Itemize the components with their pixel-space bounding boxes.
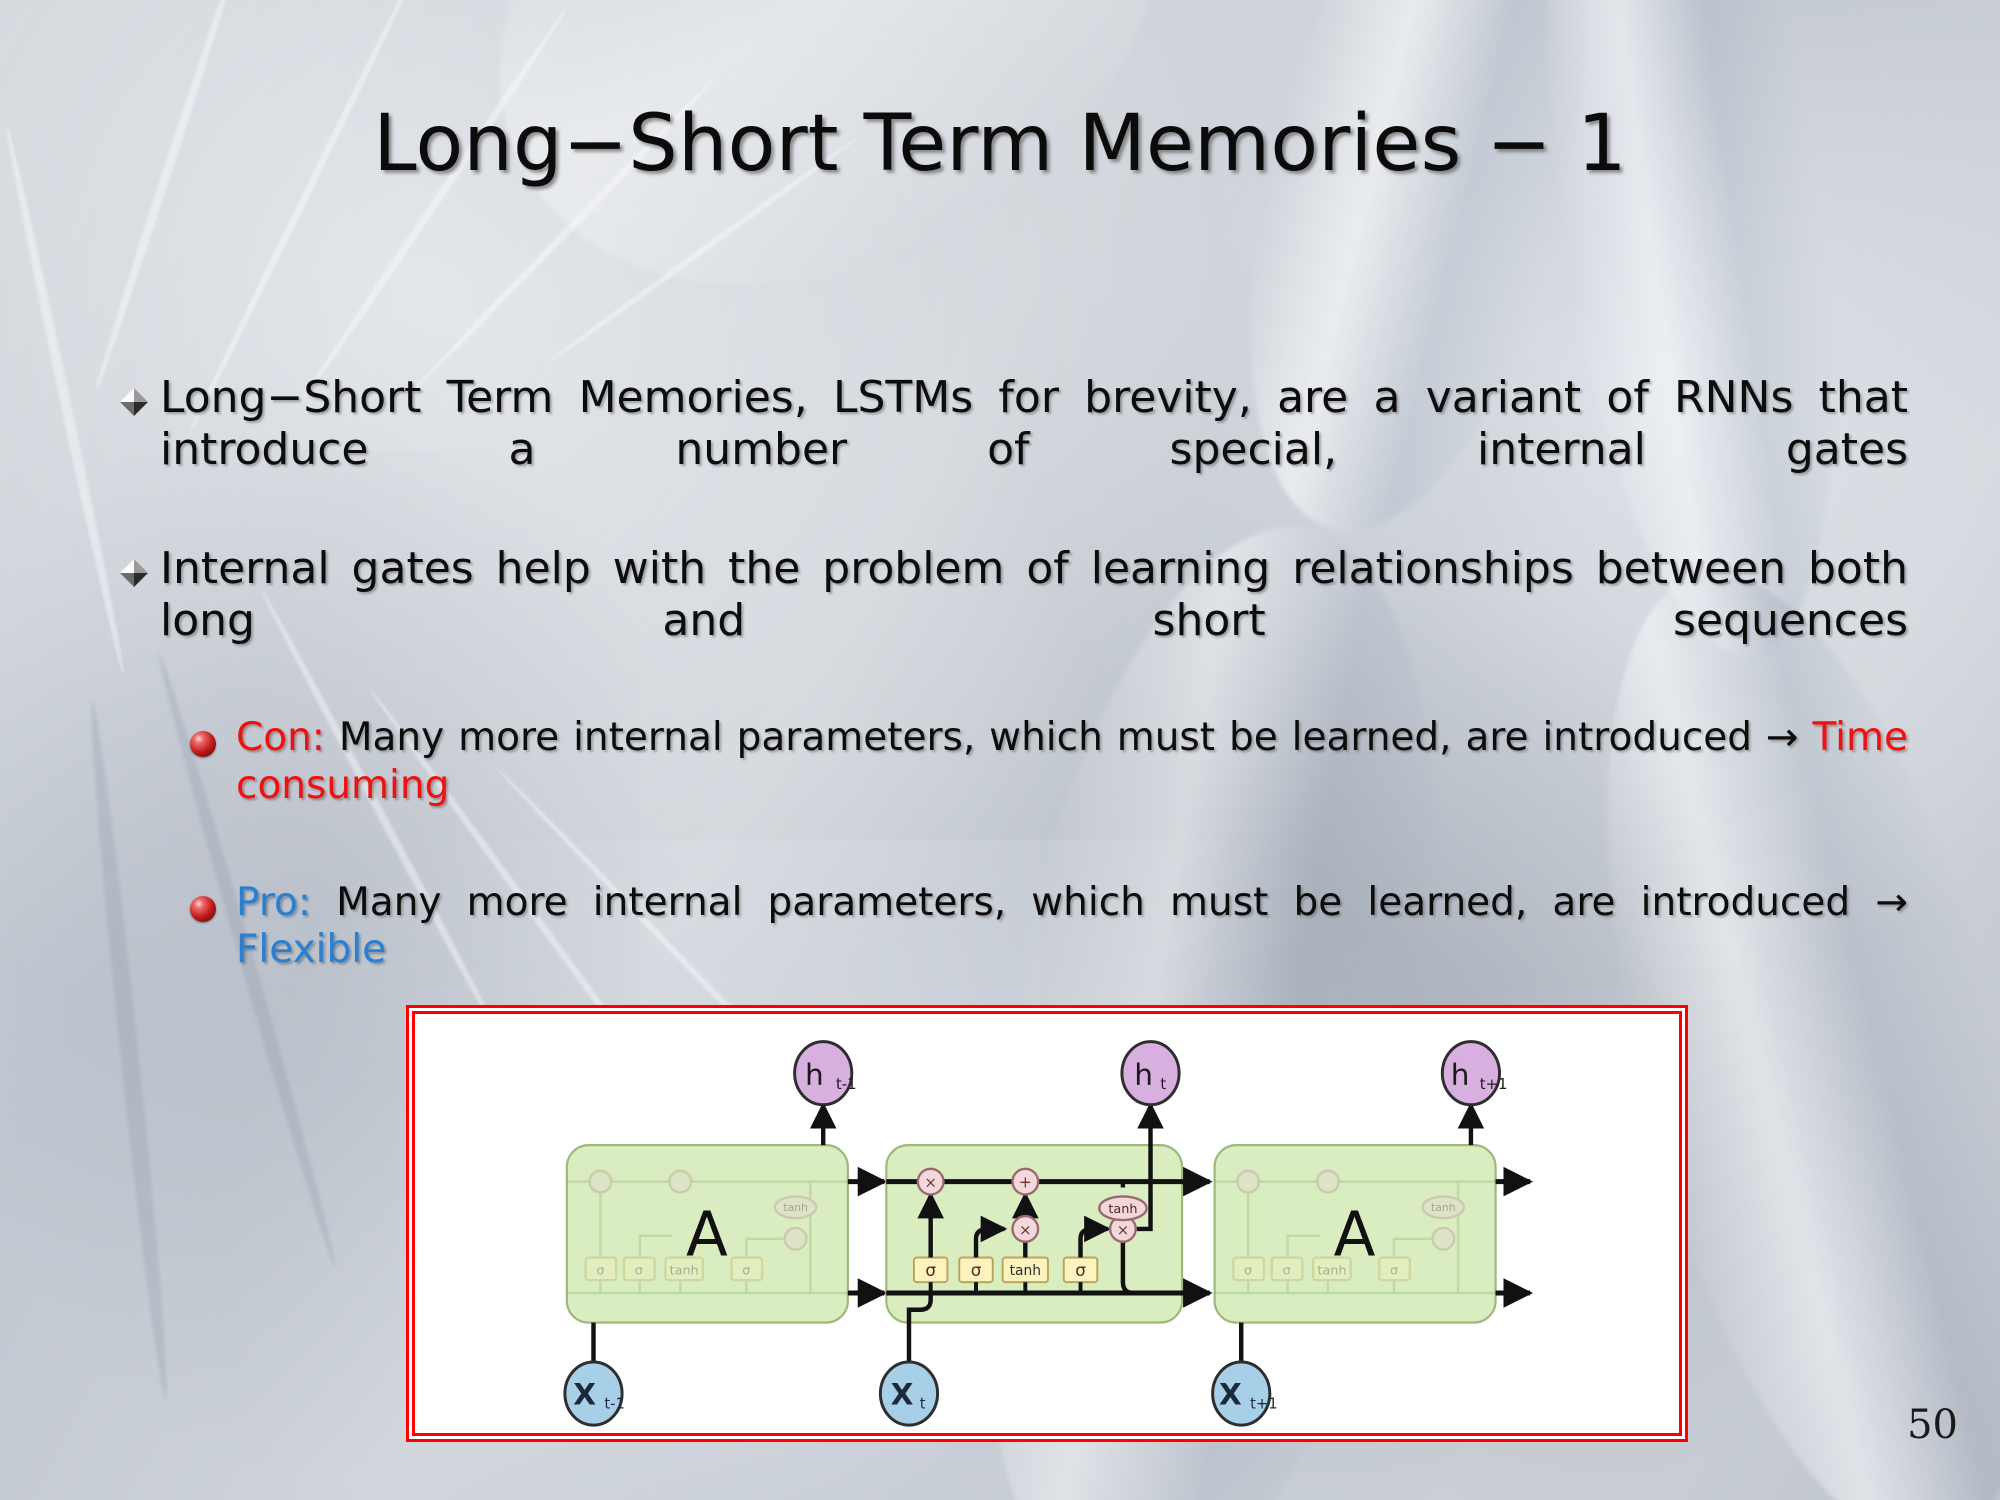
gate-label-sigma-1: σ	[925, 1260, 936, 1280]
red-ball-icon	[190, 896, 216, 922]
output-subscript: t+1	[1480, 1076, 1508, 1093]
sub-bullet-item-con: Con: Many more internal parameters, whic…	[190, 714, 1908, 857]
svg-text:σ: σ	[742, 1263, 750, 1278]
page-number: 50	[1907, 1402, 1958, 1448]
svg-text:×: ×	[924, 1175, 936, 1192]
input-subscript: t	[920, 1395, 926, 1412]
sub-bullet-text-con: Con: Many more internal parameters, whic…	[236, 714, 1908, 857]
svg-text:×: ×	[1117, 1222, 1129, 1239]
svg-text:σ: σ	[1390, 1263, 1398, 1278]
diamond-arrow-icon	[120, 559, 148, 587]
svg-text:σ: σ	[1283, 1263, 1291, 1278]
input-node-x-prev: X t-1	[565, 1362, 625, 1425]
gate-label-sigma-3: σ	[1075, 1260, 1086, 1280]
sub-bullet-text-pro: Pro: Many more internal parameters, whic…	[236, 879, 1908, 1022]
input-label-x: X	[891, 1377, 914, 1411]
diamond-arrow-icon	[120, 388, 148, 416]
gate-label-sigma-2: σ	[971, 1260, 982, 1280]
svg-text:σ: σ	[596, 1263, 604, 1278]
con-label: Con:	[236, 715, 325, 760]
gate-label-tanh: tanh	[1010, 1263, 1041, 1279]
svg-text:tanh: tanh	[1108, 1202, 1137, 1217]
svg-text:tanh: tanh	[1431, 1201, 1456, 1214]
svg-text:σ: σ	[635, 1263, 643, 1278]
output-label-h: h	[805, 1058, 824, 1092]
output-label-h: h	[1451, 1058, 1470, 1092]
input-subscript: t+1	[1250, 1395, 1278, 1412]
bullet-item-2: Internal gates help with the problem of …	[118, 543, 1908, 700]
lstm-cell-next: σ σ tanh σ tanh A	[1215, 1105, 1530, 1364]
output-node-h-next: h t+1	[1442, 1042, 1507, 1105]
lstm-cell-current: σ σ tanh σ	[886, 1105, 1209, 1364]
input-label-x: X	[573, 1377, 596, 1411]
con-body: Many more internal parameters, which mus…	[325, 715, 1813, 760]
output-subscript: t	[1160, 1076, 1166, 1093]
slide-body: Long−Short Term Memories, LSTMs for brev…	[118, 372, 1908, 1026]
lstm-diagram: σ σ tanh σ tanh A	[415, 1014, 1679, 1433]
pro-label: Pro:	[236, 880, 311, 925]
sub-bullet-marker	[190, 731, 236, 757]
slide-title: Long−Short Term Memories − 1	[0, 105, 2000, 183]
output-label-h: h	[1134, 1058, 1153, 1092]
lstm-cell-previous: σ σ tanh σ tanh A	[567, 1105, 884, 1364]
input-label-x: X	[1219, 1377, 1242, 1411]
bullet-marker	[118, 559, 160, 587]
bullet-marker	[118, 388, 160, 416]
pro-body: Many more internal parameters, which mus…	[311, 880, 1908, 925]
svg-text:tanh: tanh	[783, 1201, 808, 1214]
svg-text:×: ×	[1019, 1222, 1031, 1239]
sub-bullet-item-pro: Pro: Many more internal parameters, whic…	[190, 879, 1908, 1022]
bullet-text-2: Internal gates help with the problem of …	[160, 543, 1908, 700]
input-node-x-current: X t	[880, 1362, 937, 1425]
sub-bullet-marker	[190, 896, 236, 922]
input-subscript: t-1	[604, 1395, 625, 1412]
svg-text:+: +	[1019, 1173, 1032, 1192]
output-subscript: t-1	[836, 1076, 857, 1093]
input-node-x-next: X t+1	[1213, 1362, 1278, 1425]
bullet-text-1: Long−Short Term Memories, LSTMs for brev…	[160, 372, 1908, 529]
cell-label-A-left: A	[686, 1200, 728, 1271]
cell-label-A-right: A	[1334, 1200, 1376, 1271]
bullet-item-1: Long−Short Term Memories, LSTMs for brev…	[118, 372, 1908, 529]
output-node-h-prev: h t-1	[795, 1042, 857, 1105]
pro-highlight: Flexible	[236, 927, 386, 972]
lstm-diagram-figure: σ σ tanh σ tanh A	[412, 1011, 1682, 1436]
svg-text:σ: σ	[1244, 1263, 1252, 1278]
red-ball-icon	[190, 731, 216, 757]
output-node-h-current: h t	[1122, 1042, 1179, 1105]
